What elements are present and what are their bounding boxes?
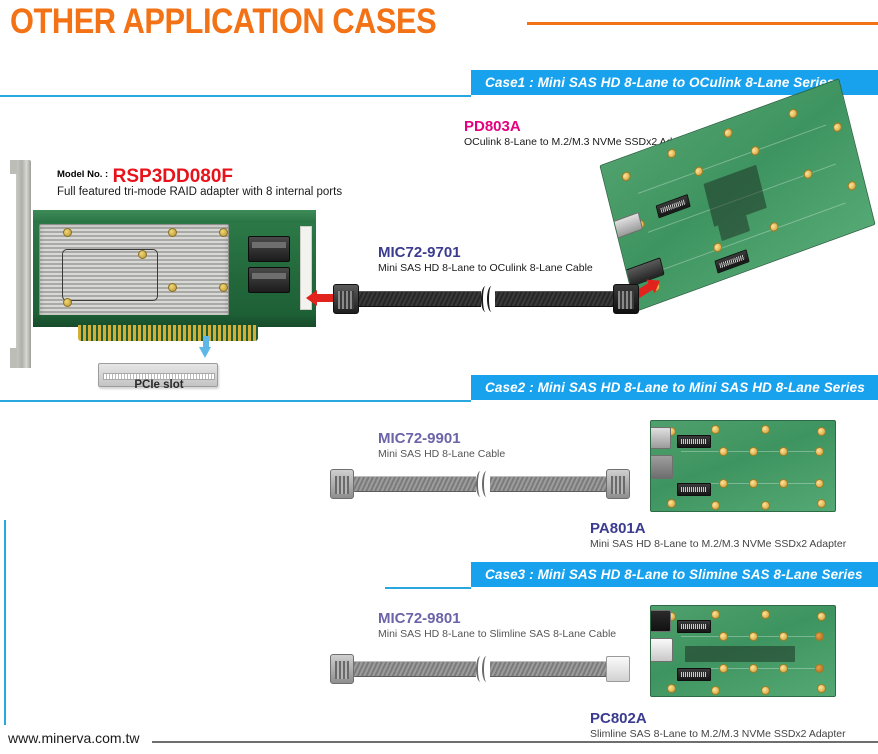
pc802a-code: PC802A bbox=[590, 710, 846, 727]
red-arrow-to-raid-ports bbox=[306, 290, 334, 306]
mic72-9901-description: Mini SAS HD 8-Lane Cable bbox=[378, 447, 505, 461]
case-underline-1 bbox=[0, 95, 471, 97]
mic72-9801-code: MIC72-9801 bbox=[378, 610, 616, 627]
m2-slot bbox=[677, 435, 711, 448]
oculink-connector-1 bbox=[607, 212, 643, 241]
raid-description-wrap: Full featured tri-mode RAID adapter with… bbox=[57, 185, 342, 199]
screw bbox=[168, 228, 177, 237]
mic72-9901-label: MIC72-9901 Mini SAS HD 8-Lane Cable bbox=[378, 430, 505, 461]
pcie-slot-body: PCIe slot bbox=[98, 363, 218, 387]
screw bbox=[168, 283, 177, 292]
sas-connector-port-2 bbox=[248, 267, 290, 293]
pcb-top-strip bbox=[33, 210, 316, 223]
case-band-2: Case2 : Mini SAS HD 8-Lane to Mini SAS H… bbox=[471, 375, 878, 400]
mic72-9901-code: MIC72-9901 bbox=[378, 430, 505, 447]
mic72-9701-label: MIC72-9701 Mini SAS HD 8-Lane to OCulink… bbox=[378, 244, 593, 275]
mic72-9801-cable-image bbox=[330, 653, 630, 685]
title-rule bbox=[527, 22, 878, 25]
pd803a-pcb bbox=[599, 78, 875, 312]
pcie-slot-label: PCIe slot bbox=[99, 379, 219, 391]
m2-slot bbox=[677, 668, 711, 681]
pcie-slot-graphic: PCIe slot bbox=[98, 357, 218, 387]
screw bbox=[63, 298, 72, 307]
raid-description: Full featured tri-mode RAID adapter with… bbox=[57, 185, 342, 199]
footer-rule bbox=[152, 741, 878, 743]
m2-slot bbox=[677, 483, 711, 496]
footer-url: www.minerva.com.tw bbox=[8, 730, 139, 746]
cable-break-symbol bbox=[476, 656, 490, 682]
mic72-9801-label: MIC72-9801 Mini SAS HD 8-Lane to Slimlin… bbox=[378, 610, 616, 641]
m2-slot bbox=[656, 194, 691, 218]
left-accent-line bbox=[4, 520, 6, 725]
pd803a-code: PD803A bbox=[464, 118, 696, 135]
mic72-9701-description: Mini SAS HD 8-Lane to OCulink 8-Lane Cab… bbox=[378, 261, 593, 275]
mic72-9801-description: Mini SAS HD 8-Lane to Slimline SAS 8-Lan… bbox=[378, 627, 616, 641]
page-title: OTHER APPLICATION CASES bbox=[10, 2, 436, 42]
pc802a-description: Slimline SAS 8-Lane to M.2/M.3 NVMe SSDx… bbox=[590, 727, 846, 741]
pcie-gold-fingers bbox=[78, 325, 258, 341]
cable-connector-right bbox=[606, 469, 630, 499]
m2-slot bbox=[714, 249, 749, 273]
pa801a-description: Mini SAS HD 8-Lane to M.2/M.3 NVMe SSDx2… bbox=[590, 537, 846, 551]
case-band-3: Case3 : Mini SAS HD 8-Lane to Slimine SA… bbox=[471, 562, 878, 587]
cable-connector-left bbox=[330, 654, 354, 684]
raid-pcb bbox=[33, 210, 316, 325]
sas-connector-2 bbox=[650, 455, 673, 479]
cable-connector-right bbox=[613, 284, 639, 314]
screw bbox=[219, 228, 228, 237]
sas-connector-1 bbox=[650, 427, 671, 449]
pc802a-label: PC802A Slimline SAS 8-Lane to M.2/M.3 NV… bbox=[590, 710, 846, 741]
insert-direction-arrow bbox=[199, 336, 212, 358]
screw bbox=[138, 250, 147, 259]
pcie-bracket bbox=[16, 160, 31, 368]
cable-connector-left bbox=[330, 469, 354, 499]
cable-break-symbol bbox=[476, 471, 490, 497]
slide-canvas: OTHER APPLICATION CASES Case1 : Mini SAS… bbox=[0, 0, 878, 754]
slimline-connector-2 bbox=[650, 638, 673, 662]
mic72-9901-cable-image bbox=[330, 468, 630, 500]
model-no-prefix: Model No. : bbox=[57, 169, 108, 180]
mic72-9701-cable-image bbox=[333, 283, 639, 315]
m2-slot bbox=[677, 620, 711, 633]
mic72-9701-code: MIC72-9701 bbox=[378, 244, 593, 261]
pa801a-label: PA801A Mini SAS HD 8-Lane to M.2/M.3 NVM… bbox=[590, 520, 846, 551]
sas-connector-port-1 bbox=[248, 236, 290, 262]
pa801a-code: PA801A bbox=[590, 520, 846, 537]
raid-model-code: RSP3DD080F bbox=[113, 166, 233, 187]
case-underline-3 bbox=[385, 587, 471, 589]
screw bbox=[219, 283, 228, 292]
cable-connector-left bbox=[333, 284, 359, 314]
cable-connector-right-slimline bbox=[606, 656, 630, 682]
case-underline-2 bbox=[0, 400, 471, 402]
screw bbox=[63, 228, 72, 237]
pd803a-board-image bbox=[599, 78, 875, 312]
pc802a-board-image bbox=[650, 605, 836, 697]
cable-break-symbol bbox=[481, 286, 495, 312]
pa801a-board-image bbox=[650, 420, 836, 512]
slimline-connector-1 bbox=[650, 610, 671, 632]
